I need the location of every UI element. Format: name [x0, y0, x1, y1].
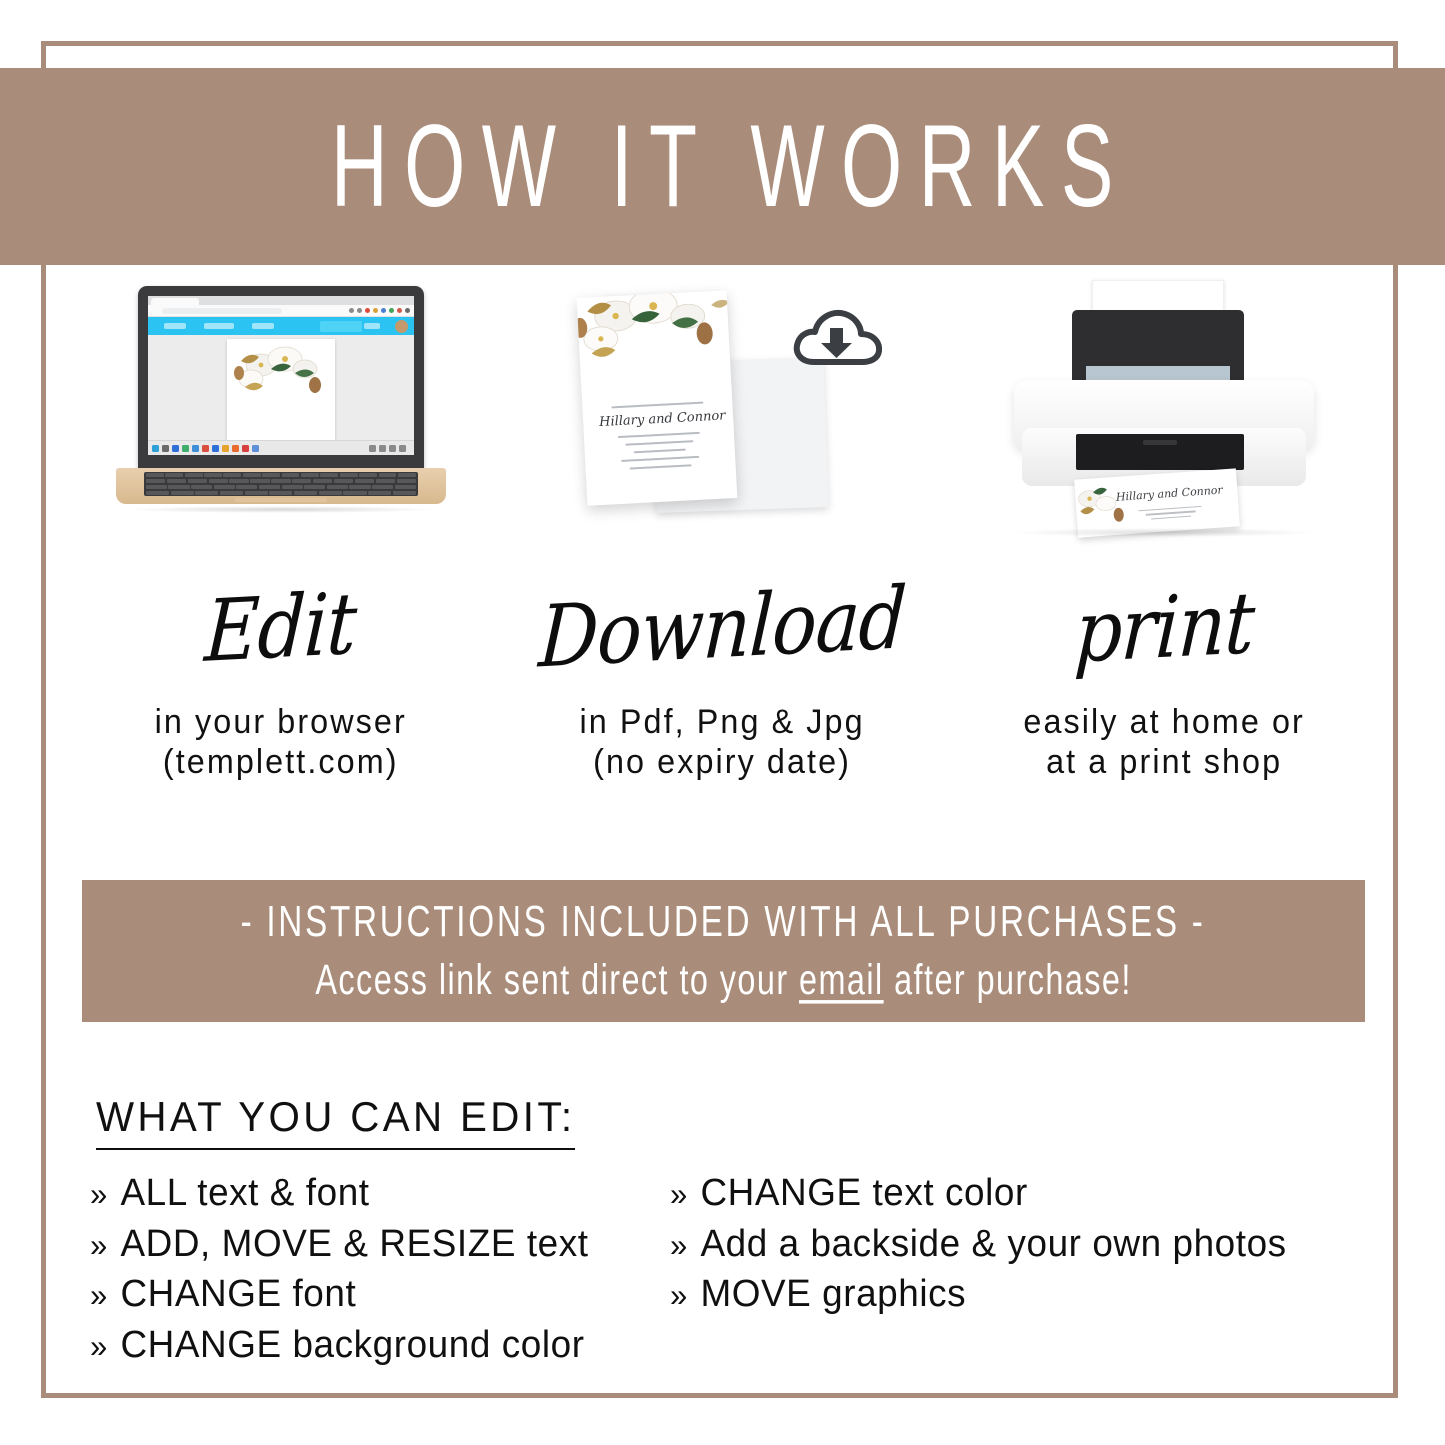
step-caption-line2: (templett.com): [155, 742, 407, 782]
chevron-right-double-icon: »: [670, 1278, 688, 1314]
chevron-right-double-icon: »: [670, 1228, 688, 1264]
step-download: Hillary and Connor: [502, 278, 944, 808]
laptop-shadow: [124, 506, 438, 513]
step-edit: Edit in your browser (templett.com): [60, 278, 502, 808]
instructions-sub-after: after purchase!: [884, 955, 1132, 1003]
list-item-label: CHANGE text color: [700, 1172, 1027, 1215]
chevron-right-double-icon: »: [90, 1278, 108, 1314]
edit-list-left: » ALL text & font » ADD, MOVE & RESIZE t…: [90, 1172, 670, 1374]
invitation-preview: [227, 339, 335, 455]
printed-floral-art: [1074, 480, 1130, 532]
edit-feature-lists: » ALL text & font » ADD, MOVE & RESIZE t…: [90, 1172, 1400, 1374]
instructions-sub-before: Access link sent direct to your: [315, 955, 799, 1003]
laptop-trackpad: [235, 498, 327, 502]
edit-section-heading: WHAT YOU CAN EDIT:: [96, 1093, 575, 1150]
card-envelope-illustration: Hillary and Connor: [502, 278, 944, 568]
chevron-right-double-icon: »: [90, 1228, 108, 1264]
step-script-label-download: Download: [536, 549, 909, 707]
browser-tab-strip: [148, 296, 414, 305]
card-text-lines: Hillary and Connor: [598, 395, 720, 477]
browser-extension-icons: [349, 308, 410, 313]
step-print: Hillary and Connor print easily at home …: [943, 278, 1385, 808]
chevron-right-double-icon: »: [90, 1177, 108, 1213]
step-caption-line1: in your browser: [155, 702, 407, 742]
list-item: » ALL text & font: [90, 1172, 653, 1215]
instructions-banner: - INSTRUCTIONS INCLUDED WITH ALL PURCHAS…: [82, 880, 1365, 1022]
edit-list-right: » CHANGE text color » Add a backside & y…: [670, 1172, 1390, 1374]
printer-icon: Hillary and Connor: [984, 278, 1344, 558]
chevron-right-double-icon: »: [670, 1177, 688, 1213]
step-caption-line1: in Pdf, Png & Jpg: [580, 702, 865, 742]
printed-card-names: Hillary and Connor: [1116, 483, 1224, 503]
floral-invitation-art: [227, 339, 335, 455]
step-caption-download: in Pdf, Png & Jpg (no expiry date): [580, 702, 865, 782]
step-script-label-print: print: [1071, 554, 1257, 702]
printer-shadow: [1014, 528, 1314, 537]
list-item-label: Add a backside & your own photos: [700, 1223, 1286, 1266]
step-caption-print: easily at home or at a print shop: [1023, 702, 1304, 782]
list-item: » CHANGE font: [90, 1273, 653, 1316]
browser-url-pill: [162, 308, 282, 314]
list-item-label: CHANGE background color: [120, 1324, 584, 1367]
printer-output-slot: [1076, 434, 1244, 470]
step-caption-line2: (no expiry date): [580, 742, 865, 782]
instructions-title: - INSTRUCTIONS INCLUDED WITH ALL PURCHAS…: [241, 897, 1206, 947]
list-item-label: CHANGE font: [120, 1273, 356, 1316]
list-item: » ADD, MOVE & RESIZE text: [90, 1223, 653, 1266]
invitation-set-icon: Hillary and Connor: [558, 284, 888, 554]
list-item-label: ALL text & font: [120, 1172, 369, 1215]
templett-toolbar: [148, 317, 414, 336]
step-script-label-edit: Edit: [202, 555, 360, 701]
list-item: » CHANGE text color: [670, 1172, 1368, 1215]
laptop-illustration: [60, 278, 502, 568]
laptop-keyboard: [144, 472, 418, 496]
steps-row: Edit in your browser (templett.com): [60, 278, 1385, 808]
list-item: » Add a backside & your own photos: [670, 1223, 1368, 1266]
instructions-subtitle: Access link sent direct to your email af…: [315, 955, 1131, 1005]
list-item-label: ADD, MOVE & RESIZE text: [120, 1223, 588, 1266]
list-item-label: MOVE graphics: [700, 1273, 966, 1316]
templett-canvas: [148, 335, 414, 441]
invitation-card: Hillary and Connor: [576, 290, 737, 506]
email-link[interactable]: email: [799, 955, 884, 1003]
os-taskbar: [148, 440, 414, 455]
browser-address-bar: [148, 305, 414, 317]
how-it-works-infographic: HOW IT WORKS: [0, 0, 1445, 1445]
printer-slot-handle: [1143, 440, 1177, 445]
card-floral-art: [576, 290, 737, 380]
page-title: HOW IT WORKS: [315, 108, 1130, 225]
cloud-download-icon: [790, 300, 882, 374]
chevron-right-double-icon: »: [90, 1329, 108, 1365]
laptop-lid: [138, 286, 424, 471]
header-banner: HOW IT WORKS: [0, 68, 1445, 265]
step-caption-edit: in your browser (templett.com): [155, 702, 407, 782]
printer-paper-tray: [1072, 310, 1244, 390]
step-caption-line2: at a print shop: [1023, 742, 1304, 782]
laptop-screen: [148, 296, 414, 455]
card-names: Hillary and Connor: [598, 409, 717, 430]
laptop-icon: [116, 286, 446, 521]
download-button-mini: [320, 321, 362, 332]
list-item: » MOVE graphics: [670, 1273, 1368, 1316]
step-caption-line1: easily at home or: [1023, 702, 1304, 742]
printer-illustration: Hillary and Connor: [943, 278, 1385, 568]
list-item: » CHANGE background color: [90, 1324, 653, 1367]
avatar-mini: [395, 320, 408, 333]
browser-tab: [151, 298, 199, 305]
